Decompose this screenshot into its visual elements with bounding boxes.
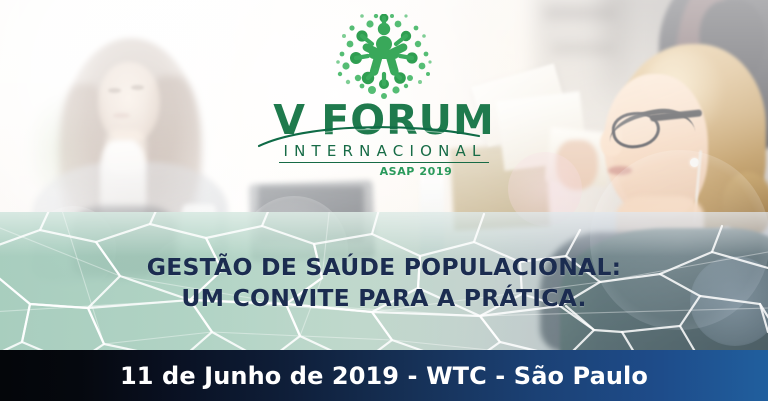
event-date-location: 11 de Junho de 2019 - WTC - São Paulo bbox=[0, 350, 768, 401]
page-title: GESTÃO DE SAÚDE POPULACIONAL: UM CONVITE… bbox=[0, 252, 768, 313]
logo-title: V FORUM bbox=[273, 100, 495, 142]
logo-subtitle: INTERNACIONAL bbox=[279, 143, 488, 163]
headline-line-2: UM CONVITE PARA A PRÁTICA. bbox=[0, 283, 768, 314]
network-molecule-icon bbox=[332, 14, 436, 102]
event-banner: V FORUM INTERNACIONAL ASAP 2019 GESTÃO D… bbox=[0, 0, 768, 401]
headline-line-1: GESTÃO DE SAÚDE POPULACIONAL: bbox=[147, 253, 621, 281]
event-info-bar: 11 de Junho de 2019 - WTC - São Paulo bbox=[0, 350, 768, 401]
logo-year-tag: ASAP 2019 bbox=[0, 165, 768, 178]
forum-logo: V FORUM INTERNACIONAL ASAP 2019 bbox=[0, 14, 768, 178]
logo-wordmark-wrap: V FORUM bbox=[273, 100, 495, 142]
